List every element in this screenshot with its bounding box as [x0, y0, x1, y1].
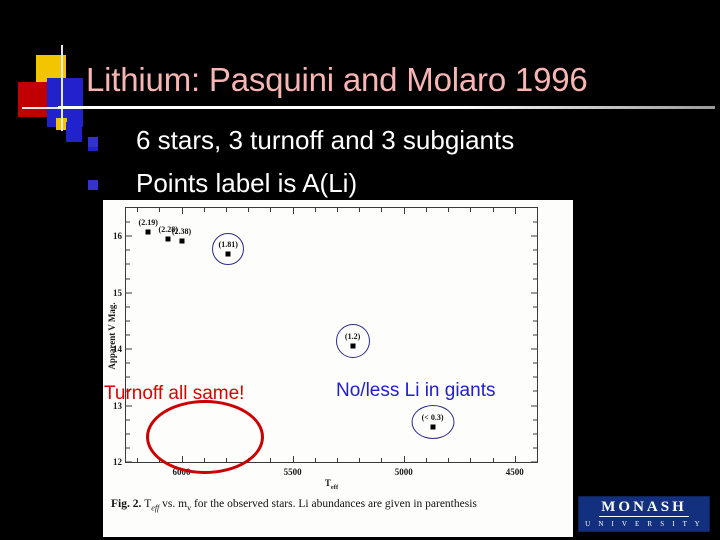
- y-tick-mark-minor: [126, 447, 130, 448]
- y-tick-mark-minor: [126, 306, 130, 307]
- logo-name: MONASH: [599, 499, 689, 517]
- x-tick-mark-minor: [381, 208, 382, 212]
- y-tick-mark-minor: [126, 335, 130, 336]
- x-tick-mark-minor: [426, 458, 427, 462]
- x-tick-mark-minor: [226, 208, 227, 212]
- y-tick-mark-minor: [533, 278, 537, 279]
- y-tick-mark-minor: [533, 250, 537, 251]
- y-tick-mark-minor: [533, 335, 537, 336]
- x-tick-label: 4500: [506, 467, 524, 477]
- bullet-item-2: Points label is A(Li): [80, 168, 700, 202]
- y-tick-mark-minor: [126, 320, 130, 321]
- x-tick-mark-minor: [493, 458, 494, 462]
- x-tick-mark: [182, 208, 183, 214]
- x-tick-mark-minor: [381, 458, 382, 462]
- x-tick-label: 5500: [284, 467, 302, 477]
- y-tick-label: 16: [113, 231, 122, 241]
- y-tick-mark-minor: [533, 447, 537, 448]
- x-tick-mark-minor: [159, 208, 160, 212]
- bullet-label-2: Points label is A(Li): [136, 166, 357, 200]
- y-tick-mark-minor: [533, 419, 537, 420]
- x-tick-mark-minor: [204, 208, 205, 212]
- x-tick-mark-minor: [448, 208, 449, 212]
- subgiant-circle-3: [411, 405, 454, 439]
- slide-canvas: Lithium: Pasquini and Molaro 1996 6 star…: [0, 0, 720, 540]
- x-tick-mark-minor: [470, 208, 471, 212]
- deco-vertical-line: [61, 45, 63, 131]
- y-tick-mark: [126, 292, 132, 293]
- x-tick-mark-minor: [337, 208, 338, 212]
- y-tick-mark-minor: [533, 377, 537, 378]
- turnoff-group-ellipse: [146, 400, 264, 474]
- subgiant-circle-2: [336, 324, 370, 358]
- caption-figure-number: Fig. 2.: [111, 498, 141, 510]
- y-tick-mark-minor: [126, 264, 130, 265]
- x-tick-mark-minor: [337, 458, 338, 462]
- x-tick-mark: [515, 456, 516, 462]
- data-point-label: (2.19): [139, 218, 158, 227]
- y-tick-mark: [531, 462, 537, 463]
- x-tick-mark-minor: [426, 208, 427, 212]
- logo-subtitle: U N I V E R S I T Y: [585, 517, 703, 529]
- bullet-square-icon: [88, 180, 98, 190]
- subgiant-circle-1: [212, 233, 244, 265]
- y-tick-mark: [531, 236, 537, 237]
- y-tick-mark-minor: [126, 222, 130, 223]
- x-tick-mark: [404, 208, 405, 214]
- y-tick-mark-minor: [533, 433, 537, 434]
- x-tick-mark-minor: [470, 458, 471, 462]
- y-tick-label: 15: [113, 288, 122, 298]
- y-tick-mark: [126, 236, 132, 237]
- x-tick-mark-minor: [137, 458, 138, 462]
- monash-university-logo: MONASH U N I V E R S I T Y: [578, 496, 710, 532]
- y-tick-mark-minor: [126, 363, 130, 364]
- x-tick-mark-minor: [315, 458, 316, 462]
- caption-teff: Teff: [144, 498, 159, 510]
- y-tick-mark-minor: [126, 278, 130, 279]
- x-tick-mark: [293, 208, 294, 214]
- annotation-giants: No/less Li in giants: [336, 379, 495, 403]
- y-tick-mark: [531, 292, 537, 293]
- figure-panel: Apparent V Mag. Teff 1213141516 60005500…: [103, 200, 573, 537]
- x-axis-label: Teff: [325, 478, 338, 491]
- data-point: [166, 237, 171, 242]
- x-tick-mark-minor: [493, 208, 494, 212]
- y-tick-mark-minor: [533, 306, 537, 307]
- x-tick-mark-minor: [448, 458, 449, 462]
- y-tick-mark-minor: [533, 363, 537, 364]
- x-tick-mark-minor: [359, 208, 360, 212]
- caption-mid-1: vs. m: [159, 498, 187, 510]
- data-point: [146, 229, 151, 234]
- x-tick-mark-minor: [270, 458, 271, 462]
- y-tick-mark-minor: [533, 391, 537, 392]
- data-point-label: (2.38): [172, 227, 191, 236]
- bullet-label-1: 6 stars, 3 turnoff and 3 subgiants: [136, 123, 514, 157]
- y-tick-mark-minor: [126, 419, 130, 420]
- x-tick-mark: [293, 456, 294, 462]
- y-tick-mark: [126, 462, 132, 463]
- data-point: [179, 238, 184, 243]
- y-tick-mark-minor: [126, 250, 130, 251]
- y-tick-mark: [531, 405, 537, 406]
- title-divider: [58, 106, 715, 109]
- figure-caption: Fig. 2. Teff vs. mv for the observed sta…: [111, 497, 563, 515]
- y-tick-mark-minor: [126, 433, 130, 434]
- y-tick-mark: [126, 349, 132, 350]
- x-tick-mark-minor: [248, 208, 249, 212]
- y-tick-label: 14: [113, 344, 122, 354]
- x-tick-mark-minor: [315, 208, 316, 212]
- y-tick-mark-minor: [533, 222, 537, 223]
- x-tick-label: 5000: [395, 467, 413, 477]
- x-tick-mark-minor: [137, 208, 138, 212]
- y-tick-mark-minor: [126, 377, 130, 378]
- caption-rest: for the observed stars. Li abundances ar…: [191, 498, 477, 510]
- x-tick-mark: [404, 456, 405, 462]
- y-tick-mark: [531, 349, 537, 350]
- x-tick-mark-minor: [270, 208, 271, 212]
- y-tick-label: 12: [113, 457, 122, 467]
- y-tick-mark-minor: [533, 264, 537, 265]
- x-tick-mark: [515, 208, 516, 214]
- page-title: Lithium: Pasquini and Molaro 1996: [86, 60, 706, 100]
- bullet-square-icon: [88, 137, 98, 147]
- bullet-item-1: 6 stars, 3 turnoff and 3 subgiants: [80, 125, 700, 159]
- x-tick-mark-minor: [359, 458, 360, 462]
- y-tick-mark-minor: [533, 320, 537, 321]
- y-axis-label: Apparent V Mag.: [107, 302, 117, 369]
